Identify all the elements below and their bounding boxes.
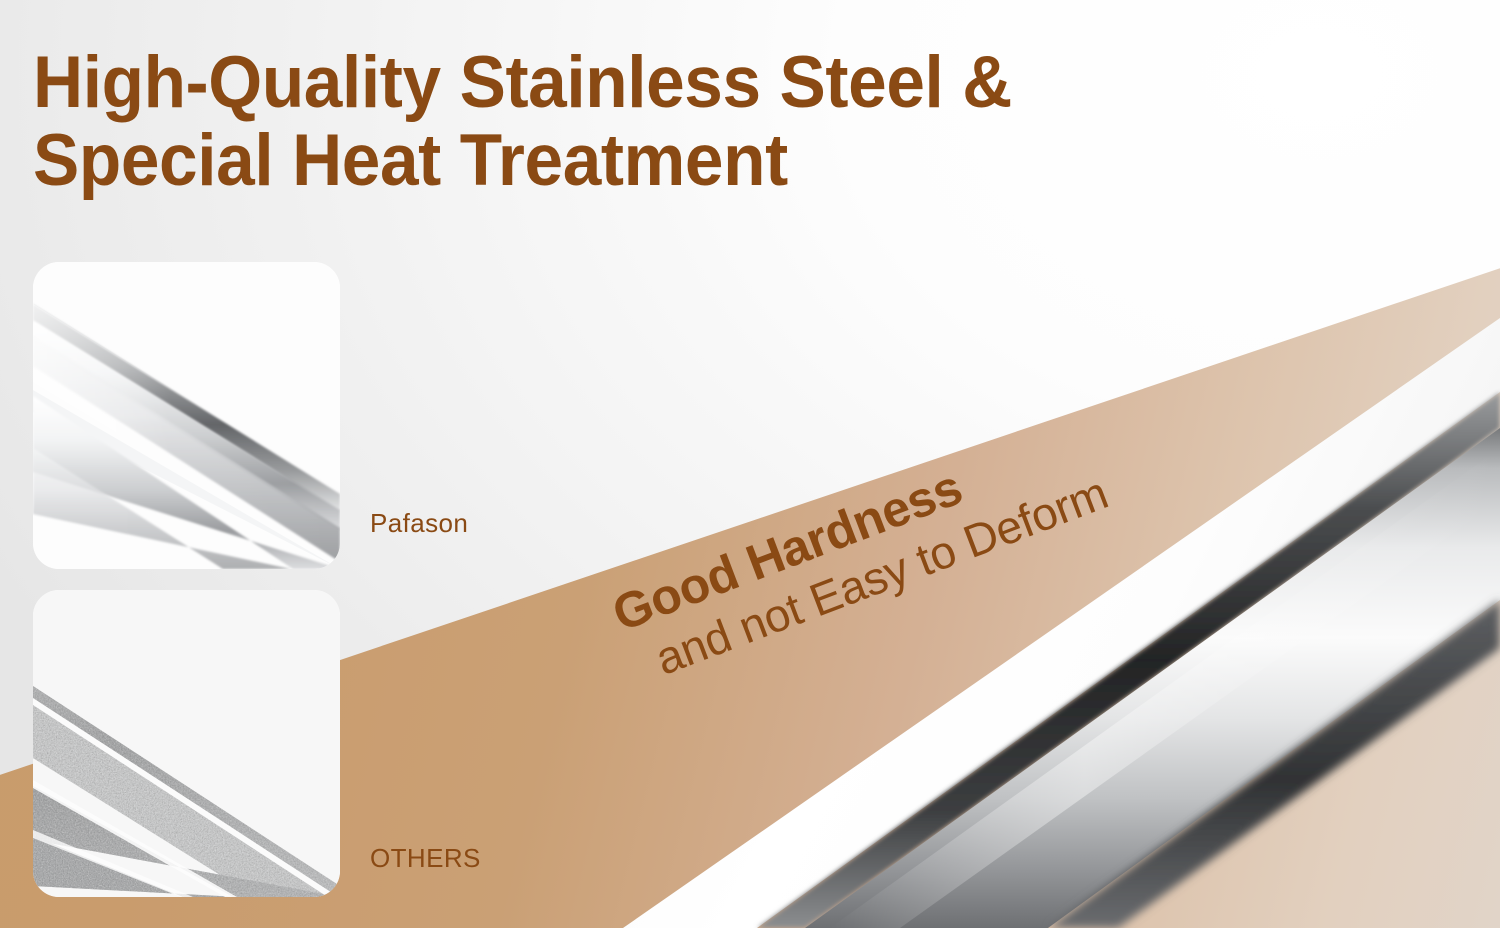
page-title: High-Quality Stainless Steel & Special H… <box>33 44 1230 200</box>
product-feature-banner: High-Quality Stainless Steel & Special H… <box>0 0 1500 928</box>
others-blade-closeup-icon <box>33 590 340 897</box>
comparison-label-others: OTHERS <box>370 843 481 874</box>
comparison-thumbnail-pafason[interactable] <box>33 262 340 569</box>
pafason-blade-closeup-icon <box>33 262 340 569</box>
comparison-label-pafason: Pafason <box>370 508 468 539</box>
comparison-thumbnail-others[interactable] <box>33 590 340 897</box>
